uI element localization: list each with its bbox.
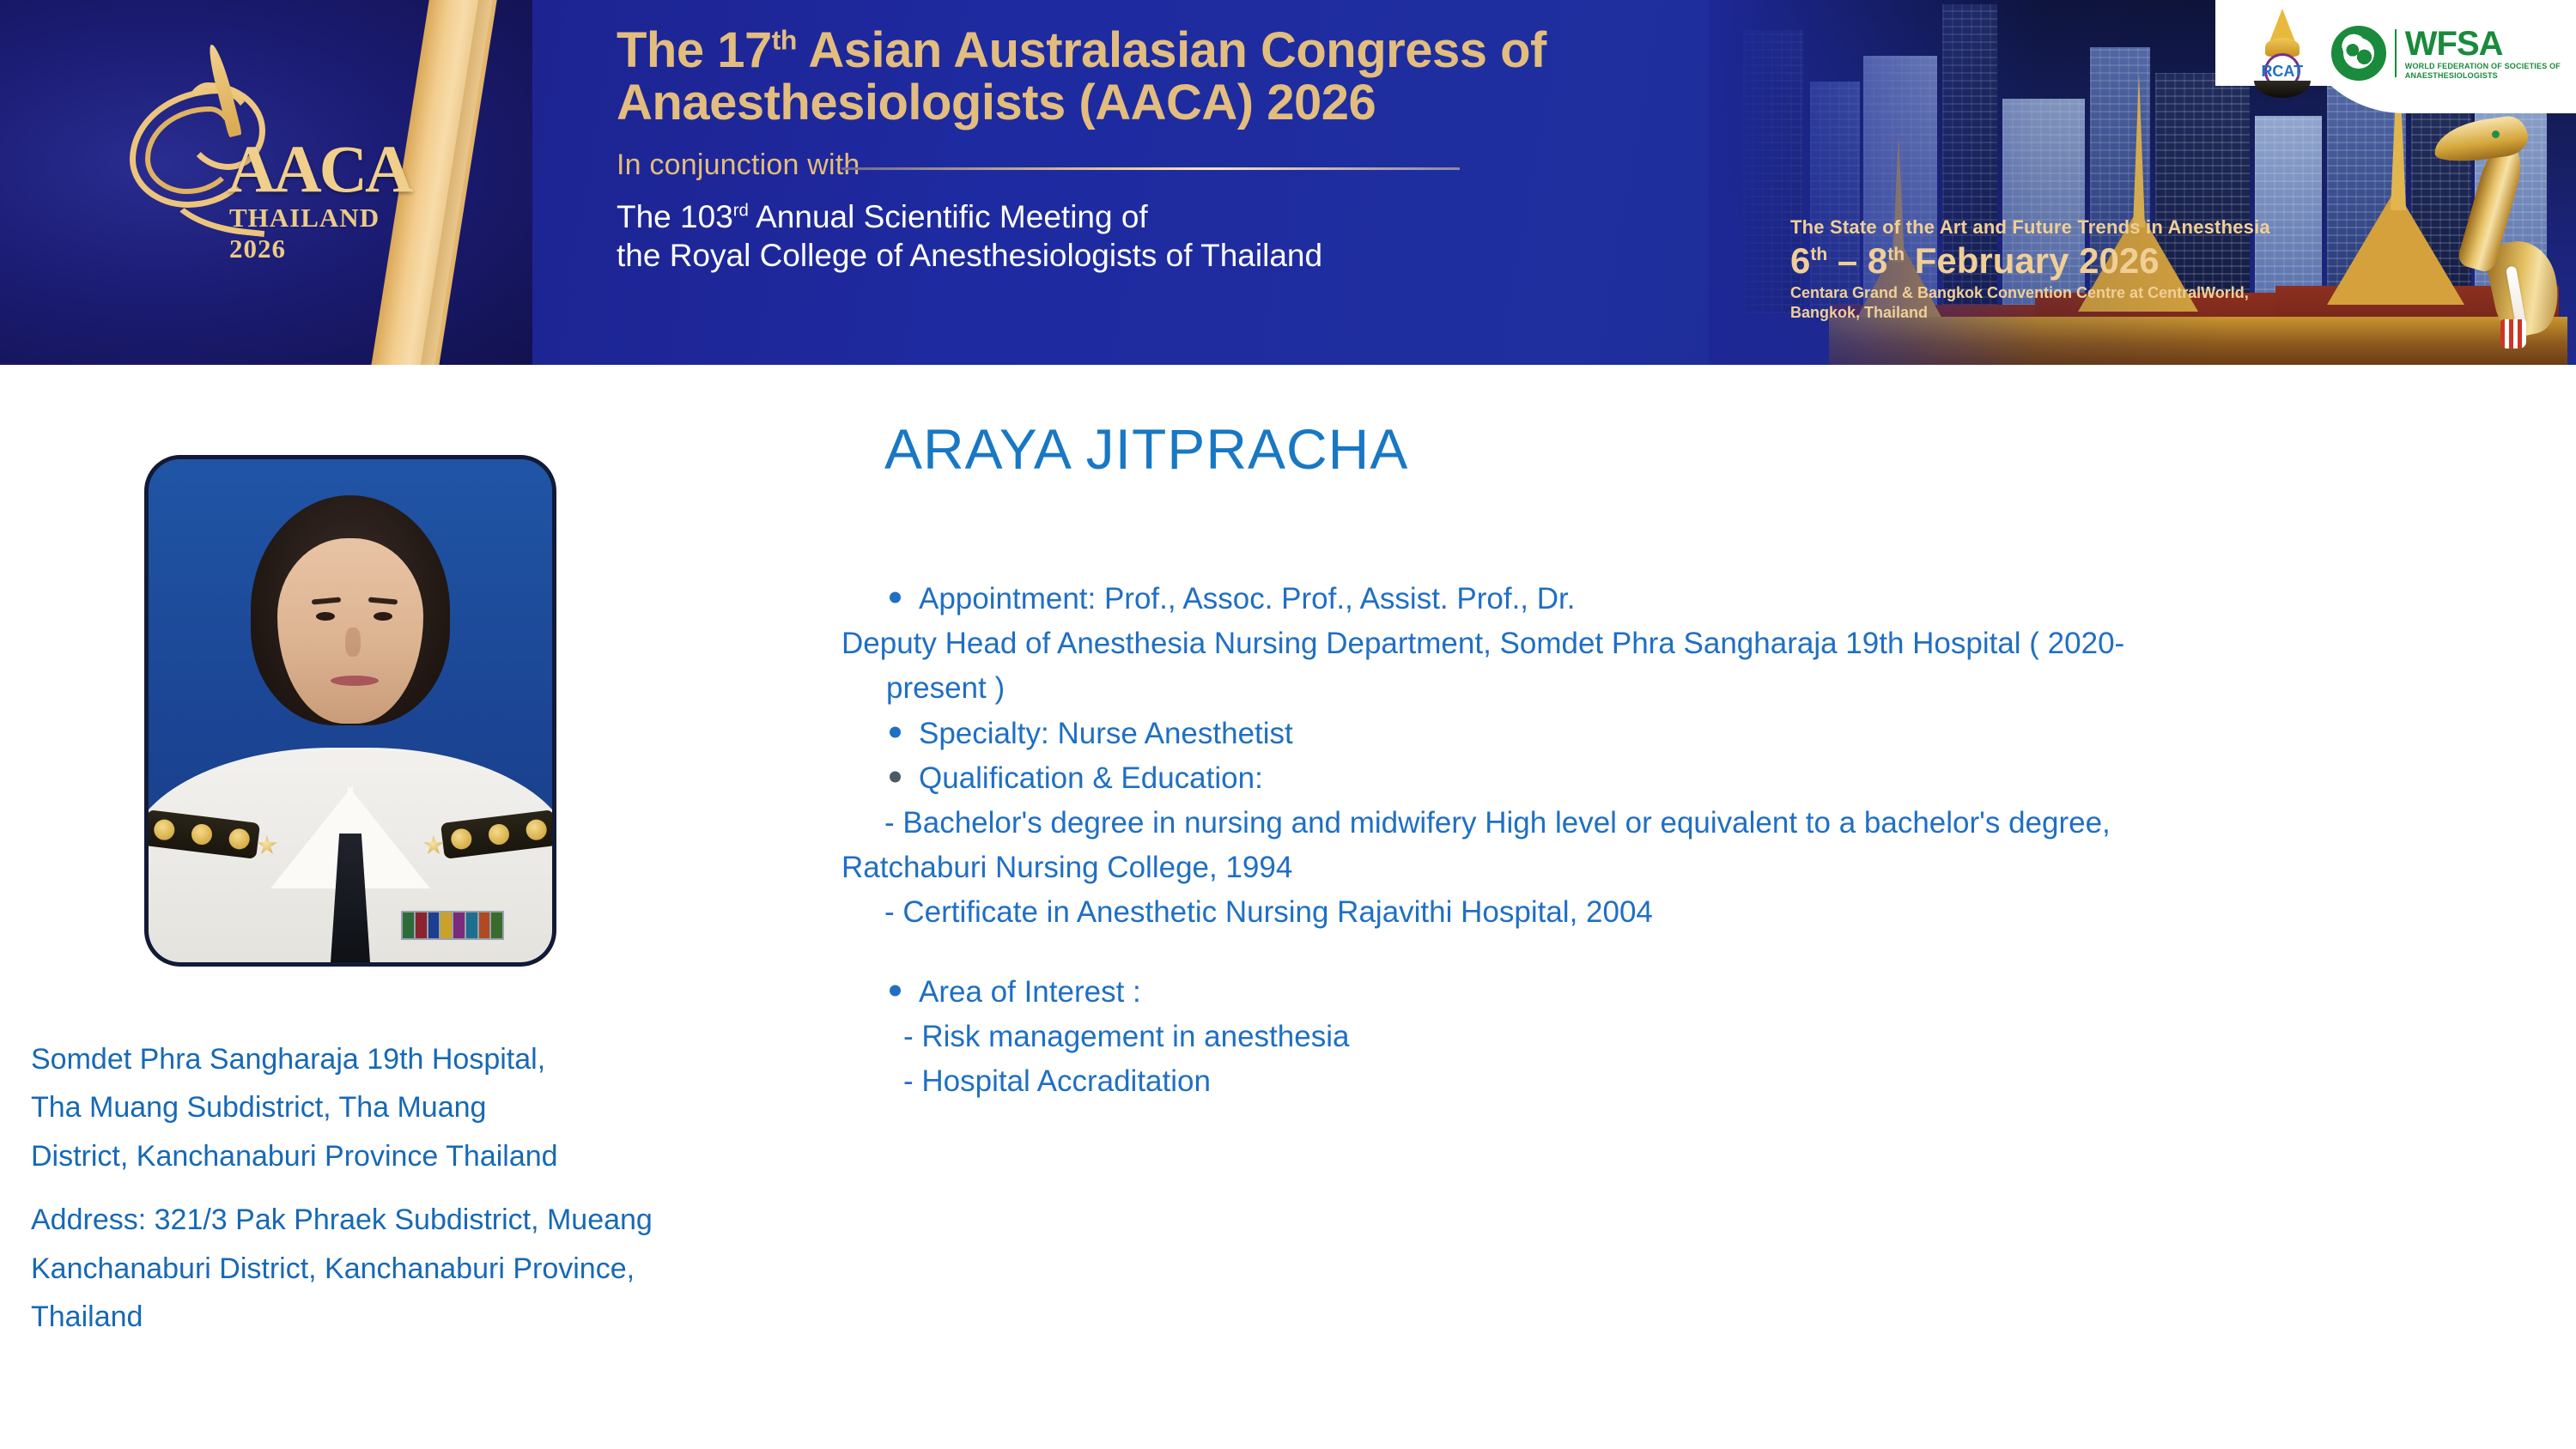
affiliation: Somdet Phra Sangharaja 19th Hospital, Th… [31, 1035, 898, 1180]
rcat-emblem-label: RCAT [2261, 63, 2303, 81]
event-date-day1: 6 [1790, 240, 1810, 281]
aaca-logo: AACA THAILAND 2026 [90, 34, 434, 300]
congress-title-part2: Asian Australasian Congress of [797, 22, 1546, 78]
wfsa-sub-line2: ANAESTHESIOLOGISTS [2405, 72, 2561, 80]
detail-text: - Bachelor's degree in nursing and midwi… [841, 806, 2524, 840]
event-venue-line1: Centara Grand & Bangkok Convention Centr… [1790, 283, 2477, 303]
detail-text: present ) [841, 671, 2524, 705]
banner-text-block: The 17th Asian Australasian Congress of … [617, 24, 1819, 275]
address-line-1: Address: 321/3 Pak Phraek Subdistrict, M… [31, 1196, 898, 1244]
detail-row: - Hospital Accraditation [841, 1064, 2524, 1098]
detail-spacer [841, 941, 2524, 975]
aaca-tagline: THAILAND 2026 [229, 203, 434, 264]
event-venue: Centara Grand & Bangkok Convention Centr… [1790, 283, 2477, 323]
address: Address: 321/3 Pak Phraek Subdistrict, M… [31, 1196, 898, 1341]
detail-text: - Hospital Accraditation [841, 1064, 2524, 1098]
detail-row: Deputy Head of Anesthesia Nursing Depart… [841, 627, 2524, 660]
congress-title-line2: Anaesthesiologists (AACA) 2026 [617, 76, 1819, 129]
wfsa-sub-line1: WORLD FEDERATION OF SOCIETIES OF [2405, 63, 2561, 70]
event-theme: The State of the Art and Future Trends i… [1790, 216, 2477, 239]
meeting-subtitle-ordinal: rd [733, 202, 749, 221]
meeting-subtitle: The 103rd Annual Scientific Meeting of t… [617, 197, 1819, 275]
detail-row: Appointment: Prof., Assoc. Prof., Assist… [841, 582, 2524, 615]
congress-title: The 17th Asian Australasian Congress of … [617, 24, 1819, 130]
bullet-icon [890, 726, 901, 737]
detail-text: Qualification & Education: [841, 761, 2524, 795]
address-line-2: Kanchanaburi District, Kanchanaburi Prov… [31, 1245, 898, 1293]
affiliation-line-1: Somdet Phra Sangharaja 19th Hospital, [31, 1035, 898, 1083]
detail-row: Qualification & Education: [841, 761, 2524, 795]
conference-banner: RCAT WFSA WORLD FEDERATION OF SOCIETIES … [0, 0, 2576, 365]
bullet-icon [890, 771, 901, 782]
detail-text: Deputy Head of Anesthesia Nursing Depart… [841, 627, 2524, 660]
detail-row: - Bachelor's degree in nursing and midwi… [841, 806, 2524, 840]
bullet-icon [890, 985, 901, 996]
wfsa-logo: WFSA WORLD FEDERATION OF SOCIETIES OF AN… [2331, 26, 2561, 81]
speaker-affiliation-block: Somdet Phra Sangharaja 19th Hospital, Th… [31, 1035, 898, 1357]
detail-text: Appointment: Prof., Assoc. Prof., Assist… [841, 582, 2524, 615]
aaca-acronym: AACA [228, 130, 410, 208]
bullet-icon [890, 592, 901, 603]
speaker-details-list: Appointment: Prof., Assoc. Prof., Assist… [841, 582, 2524, 1109]
speaker-photo [144, 455, 556, 967]
event-date-sup2: th [1887, 245, 1905, 264]
detail-row: present ) [841, 671, 2524, 705]
event-date-sup1: th [1810, 245, 1827, 264]
detail-row: Specialty: Nurse Anesthetist [841, 717, 2524, 750]
meeting-subtitle-part1: The 103 [617, 199, 733, 234]
event-dates: 6th – 8th February 2026 [1790, 241, 2477, 280]
in-conjunction-row: In conjunction with [617, 149, 1819, 182]
gold-rule [841, 167, 1460, 170]
detail-row: Area of Interest : [841, 975, 2524, 1009]
congress-title-ordinal: th [772, 25, 797, 56]
detail-text: Ratchaburi Nursing College, 1994 [841, 851, 2524, 884]
in-conjunction-label: In conjunction with [617, 149, 860, 181]
detail-text: - Certificate in Anesthetic Nursing Raja… [841, 895, 2524, 929]
address-line-3: Thailand [31, 1293, 898, 1341]
detail-text: - Risk management in anesthesia [841, 1020, 2524, 1053]
detail-text: Area of Interest : [841, 975, 2524, 1009]
congress-title-part1: The 17 [617, 22, 772, 78]
event-venue-line2: Bangkok, Thailand [1790, 303, 2477, 323]
detail-text: Specialty: Nurse Anesthetist [841, 717, 2524, 750]
rcat-emblem-icon: RCAT [2252, 7, 2312, 100]
partner-logos: RCAT WFSA WORLD FEDERATION OF SOCIETIES … [2252, 7, 2561, 100]
speaker-name: ARAYA JITPRACHA [884, 416, 1408, 482]
detail-row: - Certificate in Anesthetic Nursing Raja… [841, 895, 2524, 929]
event-date-day2: 8 [1868, 240, 1887, 281]
affiliation-line-2: Tha Muang Subdistrict, Tha Muang [31, 1083, 898, 1131]
meeting-subtitle-part2: Annual Scientific Meeting of [749, 199, 1148, 234]
event-date-separator: – [1827, 240, 1868, 281]
detail-row: - Risk management in anesthesia [841, 1020, 2524, 1053]
event-date-month-year: February 2026 [1905, 240, 2160, 281]
affiliation-line-3: District, Kanchanaburi Province Thailand [31, 1132, 898, 1180]
wfsa-name: WFSA [2405, 27, 2561, 61]
wfsa-globe-icon [2331, 26, 2386, 81]
meeting-subtitle-line2: the Royal College of Anesthesiologists o… [617, 236, 1819, 275]
detail-row: Ratchaburi Nursing College, 1994 [841, 851, 2524, 884]
event-info-block: The State of the Art and Future Trends i… [1790, 216, 2477, 323]
